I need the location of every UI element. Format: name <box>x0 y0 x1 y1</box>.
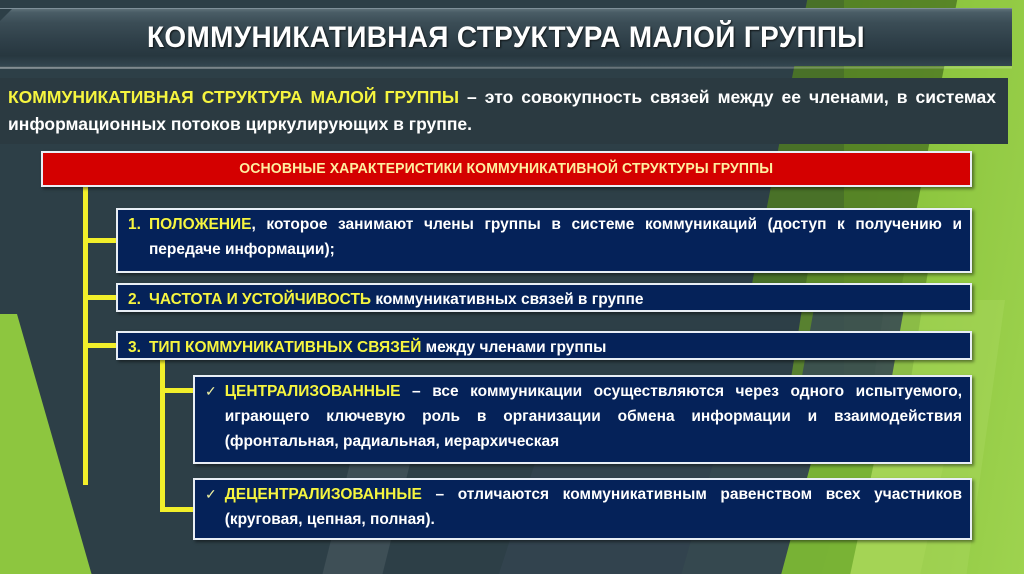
item-2-keyword: ЧАСТОТА И УСТОЙЧИВОСТЬ <box>149 291 371 308</box>
slide-canvas: КОММУНИКАТИВНАЯ СТРУКТУРА МАЛОЙ ГРУППЫ К… <box>0 0 1024 574</box>
connector-branch-subitem-2 <box>160 507 195 512</box>
checkmark-icon: ✓ <box>205 379 217 460</box>
item-1-keyword: ПОЛОЖЕНИЕ <box>149 216 252 233</box>
item-2-text: ЧАСТОТА И УСТОЙЧИВОСТЬ коммуникативных с… <box>149 287 962 308</box>
item-3-description: между членами группы <box>421 339 606 356</box>
item-1-text: ПОЛОЖЕНИЕ, которое занимают члены группы… <box>149 212 962 269</box>
connector-trunk-main <box>83 187 88 485</box>
item-3-keyword: ТИП КОММУНИКАТИВНЫХ СВЯЗЕЙ <box>149 339 421 356</box>
slide-title-bar: КОММУНИКАТИВНАЯ СТРУКТУРА МАЛОЙ ГРУППЫ <box>0 8 1012 66</box>
title-bar-corner-notch <box>0 9 12 21</box>
item-3-number: 3. <box>128 335 141 356</box>
subitem-2-keyword: ДЕЦЕНТРАЛИЗОВАННЫЕ <box>225 486 422 503</box>
item-3-text: ТИП КОММУНИКАТИВНЫХ СВЯЗЕЙ между членами… <box>149 335 962 356</box>
characteristic-item-2: 2. ЧАСТОТА И УСТОЙЧИВОСТЬ коммуникативны… <box>116 283 972 312</box>
definition-band: КОММУНИКАТИВНАЯ СТРУКТУРА МАЛОЙ ГРУППЫ –… <box>0 78 1008 144</box>
connector-branch-item-2 <box>83 295 118 300</box>
item-1-description: , которое занимают члены группы в систем… <box>149 216 962 258</box>
definition-text: КОММУНИКАТИВНАЯ СТРУКТУРА МАЛОЙ ГРУППЫ –… <box>8 84 996 138</box>
page-title: КОММУНИКАТИВНАЯ СТРУКТУРА МАЛОЙ ГРУППЫ <box>147 21 865 55</box>
item-2-description: коммуникативных связей в группе <box>371 291 643 308</box>
subitem-2-text: ДЕЦЕНТРАЛИЗОВАННЫЕ – отличаются коммуник… <box>225 482 962 536</box>
connector-branch-item-3 <box>83 343 118 348</box>
section-header-box: ОСНОВНЫЕ ХАРАКТЕРИСТИКИ КОММУНИКАТИВНОЙ … <box>41 151 972 187</box>
title-underline <box>0 67 1012 69</box>
characteristic-item-1: 1. ПОЛОЖЕНИЕ, которое занимают члены гру… <box>116 208 972 273</box>
communication-type-decentralized: ✓ ДЕЦЕНТРАЛИЗОВАННЫЕ – отличаются коммун… <box>193 478 972 540</box>
connector-branch-item-1 <box>83 238 118 243</box>
section-header-label: ОСНОВНЫЕ ХАРАКТЕРИСТИКИ КОММУНИКАТИВНОЙ … <box>240 161 774 177</box>
communication-type-centralized: ✓ ЦЕНТРАЛИЗОВАННЫЕ – все коммуникации ос… <box>193 375 972 464</box>
definition-term: КОММУНИКАТИВНАЯ СТРУКТУРА МАЛОЙ ГРУППЫ <box>8 87 459 107</box>
item-2-number: 2. <box>128 287 141 308</box>
characteristic-item-3: 3. ТИП КОММУНИКАТИВНЫХ СВЯЗЕЙ между член… <box>116 331 972 360</box>
checkmark-icon: ✓ <box>205 482 217 536</box>
connector-trunk-sub <box>160 360 165 512</box>
connector-branch-subitem-1 <box>160 388 195 393</box>
subitem-1-text: ЦЕНТРАЛИЗОВАННЫЕ – все коммуникации осущ… <box>225 379 962 460</box>
item-1-number: 1. <box>128 212 141 269</box>
subitem-1-keyword: ЦЕНТРАЛИЗОВАННЫЕ <box>225 383 401 400</box>
